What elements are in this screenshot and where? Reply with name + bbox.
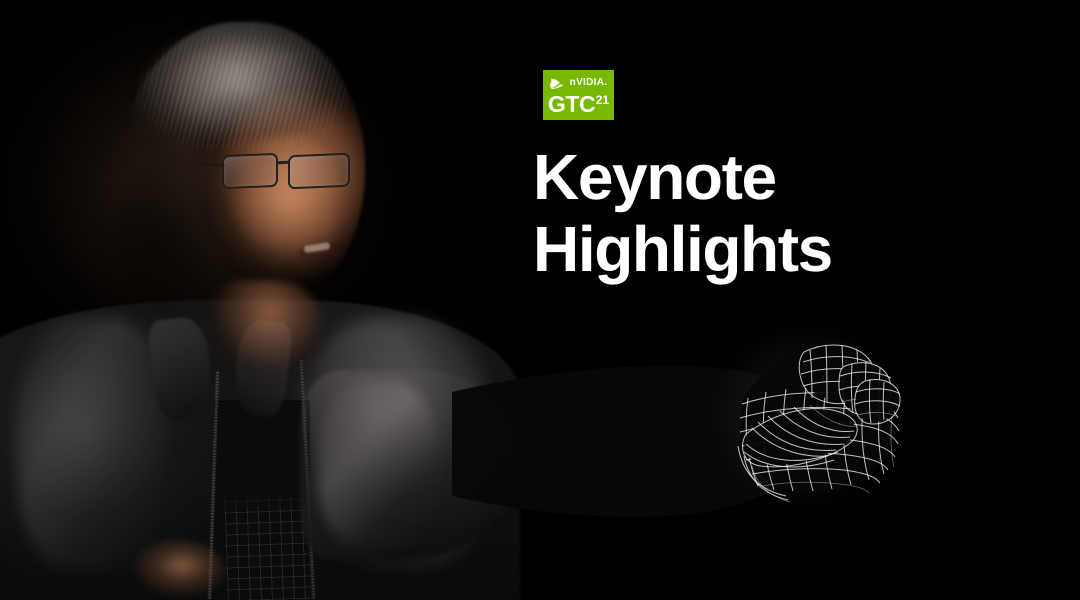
- wireframe-hand: [710, 320, 900, 510]
- page-title: Keynote Highlights: [533, 142, 832, 285]
- shirt-weave-pattern: [224, 489, 312, 600]
- hair-strands: [130, 20, 350, 150]
- jacket-collar-left: [147, 315, 215, 421]
- face-highlight: [208, 120, 358, 300]
- gtc-lockup: GTC 21: [548, 93, 609, 116]
- speaker-portrait: [0, 0, 1080, 600]
- teeth: [304, 242, 331, 253]
- glasses-temple: [186, 162, 226, 168]
- forearm-wireframe: [424, 364, 802, 517]
- jacket-collar-right: [230, 317, 293, 419]
- jacket-zipper-left: [208, 372, 219, 600]
- wireframe-arm-graphic: [0, 0, 1080, 600]
- gtc-text: GTC: [548, 93, 595, 116]
- mouth: [295, 240, 341, 262]
- key-light-glow: [0, 0, 500, 500]
- gtc-keynote-banner: nVIDIA. GTC 21 Keynote Highlights: [0, 0, 1080, 600]
- jacket-zipper-right: [300, 360, 316, 600]
- inner-shirt: [214, 400, 310, 600]
- glasses-lens-right: [288, 153, 350, 190]
- eyeglasses: [222, 150, 370, 196]
- glasses-bridge: [276, 161, 290, 165]
- gtc-year-text: 21: [596, 94, 609, 106]
- leather-jacket: [0, 300, 520, 600]
- jacket-highlight-right: [300, 318, 490, 568]
- jacket-highlight-left: [18, 320, 168, 570]
- hair: [132, 18, 346, 138]
- face-shadow: [112, 150, 232, 330]
- sleeve-highlight: [318, 380, 438, 550]
- nvidia-lockup: nVIDIA.: [550, 77, 608, 90]
- nvidia-eye-icon: [550, 78, 567, 89]
- resting-hand: [130, 540, 226, 600]
- gtc-badge: nVIDIA. GTC 21: [543, 70, 614, 120]
- head: [120, 22, 365, 312]
- outstretched-sleeve: [300, 370, 520, 560]
- glasses-lens-left: [222, 153, 278, 189]
- nvidia-wordmark: nVIDIA.: [570, 78, 608, 88]
- neck: [196, 280, 324, 400]
